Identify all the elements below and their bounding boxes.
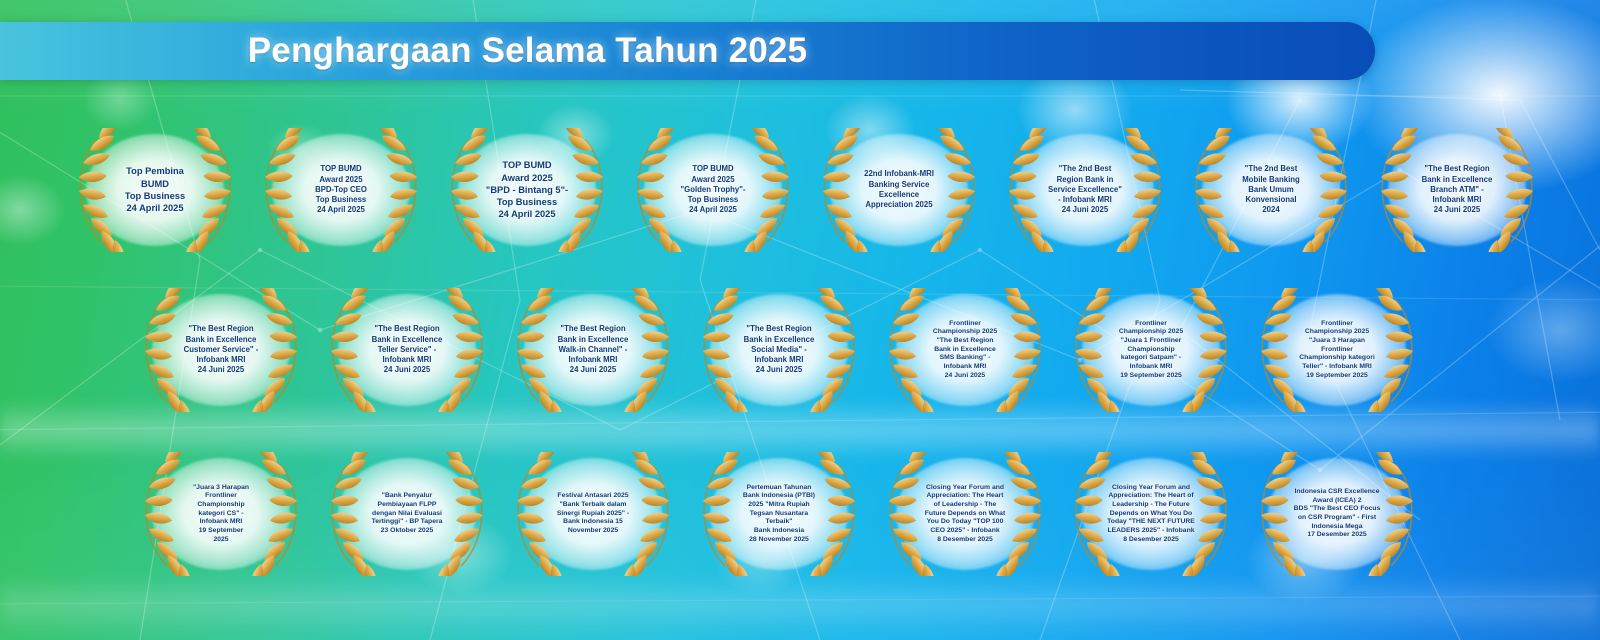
- award-badge-top-bumd-award-bpd-bintang-5: TOP BUMD Award 2025 "BPD - Bintang 5"- T…: [434, 128, 620, 252]
- award-badge-closing-year-forum-next-future-leaders: Closing Year Forum and Appreciation: The…: [1058, 452, 1244, 576]
- award-badge-text: TOP BUMD Award 2025 "Golden Trophy"- Top…: [654, 164, 772, 215]
- award-badge-text: "Bank Penyalur Pembiayaan FLPP dengan Ni…: [344, 492, 470, 535]
- award-badge-text: "The 2nd Best Region Bank in Service Exc…: [1026, 164, 1144, 215]
- award-badge-frontliner-championship-juara-1-satpam: Frontliner Championship 2025 "Juara 1 Fr…: [1058, 288, 1244, 412]
- award-badge-text: Festival Antasari 2025 "Bank Terbaik dal…: [530, 492, 656, 535]
- award-badge-text: "The Best Region Bank in Excellence Tell…: [348, 324, 466, 375]
- award-badge-text: Frontliner Championship 2025 "Juara 1 Fr…: [1088, 320, 1214, 381]
- award-badge-text: "The 2nd Best Mobile Banking Bank Umum K…: [1212, 164, 1330, 215]
- award-badge-text: "Juara 3 Harapan Frontliner Championship…: [158, 484, 284, 545]
- award-badge-best-region-bank-excellence-teller-service: "The Best Region Bank in Excellence Tell…: [314, 288, 500, 412]
- award-badge-infobank-mri-banking-service-excellence: 22nd Infobank-MRI Banking Service Excell…: [806, 128, 992, 252]
- background-horizontal-sheen-low: [0, 575, 1600, 635]
- page-title: Penghargaan Selama Tahun 2025: [0, 31, 1375, 71]
- award-badge-text: Closing Year Forum and Appreciation: The…: [902, 484, 1028, 545]
- award-badge-bank-penyalur-pembiayaan-flpp: "Bank Penyalur Pembiayaan FLPP dengan Ni…: [314, 452, 500, 576]
- award-badge-indonesia-csr-excellence-award-icea: Indonesia CSR Excellence Award (ICEA) 2 …: [1244, 452, 1430, 576]
- award-badge-best-region-bank-excellence-customer-service: "The Best Region Bank in Excellence Cust…: [128, 288, 314, 412]
- award-badge-text: 22nd Infobank-MRI Banking Service Excell…: [840, 169, 958, 210]
- award-badge-top-pembina-bumd: Top Pembina BUMD Top Business 24 April 2…: [62, 128, 248, 252]
- award-badge-2nd-best-region-bank-service-excellence: "The 2nd Best Region Bank in Service Exc…: [992, 128, 1178, 252]
- award-row-1: Top Pembina BUMD Top Business 24 April 2…: [62, 128, 1562, 252]
- award-badge-text: Frontliner Championship 2025 "Juara 3 Ha…: [1274, 320, 1400, 381]
- award-badge-frontliner-championship-sms-banking: Frontliner Championship 2025 "The Best R…: [872, 288, 1058, 412]
- award-badge-text: Frontliner Championship 2025 "The Best R…: [902, 320, 1028, 381]
- award-badge-closing-year-forum-top-100-ceo: Closing Year Forum and Appreciation: The…: [872, 452, 1058, 576]
- award-badge-text: "The Best Region Bank in Excellence Walk…: [534, 324, 652, 375]
- award-badge-text: Closing Year Forum and Appreciation: The…: [1088, 484, 1214, 545]
- award-badge-frontliner-championship-juara-3-harapan-teller: Frontliner Championship 2025 "Juara 3 Ha…: [1244, 288, 1430, 412]
- award-row-3: "Juara 3 Harapan Frontliner Championship…: [128, 452, 1488, 576]
- award-badge-text: TOP BUMD Award 2025 "BPD - Bintang 5"- T…: [468, 159, 586, 220]
- award-badge-best-region-bank-excellence-walk-in-channel: "The Best Region Bank in Excellence Walk…: [500, 288, 686, 412]
- award-badge-2nd-best-mobile-banking-bank-umum-konvensional: "The 2nd Best Mobile Banking Bank Umum K…: [1178, 128, 1364, 252]
- title-bar: Penghargaan Selama Tahun 2025: [0, 22, 1375, 80]
- award-badge-text: Pertemuan Tahunan Bank Indonesia (PTBI) …: [716, 484, 842, 545]
- award-badge-text: TOP BUMD Award 2025 BPD-Top CEO Top Busi…: [282, 164, 400, 215]
- award-badge-best-region-bank-excellence-social-media: "The Best Region Bank in Excellence Soci…: [686, 288, 872, 412]
- award-badge-top-bumd-award-bpd-top-ceo: TOP BUMD Award 2025 BPD-Top CEO Top Busi…: [248, 128, 434, 252]
- award-badge-text: Top Pembina BUMD Top Business 24 April 2…: [96, 165, 214, 214]
- award-badge-pertemuan-tahunan-bank-indonesia-ptbi: Pertemuan Tahunan Bank Indonesia (PTBI) …: [686, 452, 872, 576]
- award-badge-juara-3-harapan-frontliner-championship-cs: "Juara 3 Harapan Frontliner Championship…: [128, 452, 314, 576]
- award-badge-text: "The Best Region Bank in Excellence Cust…: [162, 324, 280, 375]
- awards-banner: Penghargaan Selama Tahun 2025 Top Pembin…: [0, 0, 1600, 640]
- award-badge-text: "The Best Region Bank in Excellence Soci…: [720, 324, 838, 375]
- award-badge-festival-antasari-bank-terbaik-sinergi-rupiah: Festival Antasari 2025 "Bank Terbaik dal…: [500, 452, 686, 576]
- award-badge-best-region-bank-excellence-branch-atm: "The Best Region Bank in Excellence Bran…: [1364, 128, 1550, 252]
- award-row-2: "The Best Region Bank in Excellence Cust…: [128, 288, 1488, 412]
- award-badge-text: "The Best Region Bank in Excellence Bran…: [1398, 164, 1516, 215]
- award-badge-top-bumd-award-golden-trophy: TOP BUMD Award 2025 "Golden Trophy"- Top…: [620, 128, 806, 252]
- award-badge-text: Indonesia CSR Excellence Award (ICEA) 2 …: [1274, 488, 1400, 540]
